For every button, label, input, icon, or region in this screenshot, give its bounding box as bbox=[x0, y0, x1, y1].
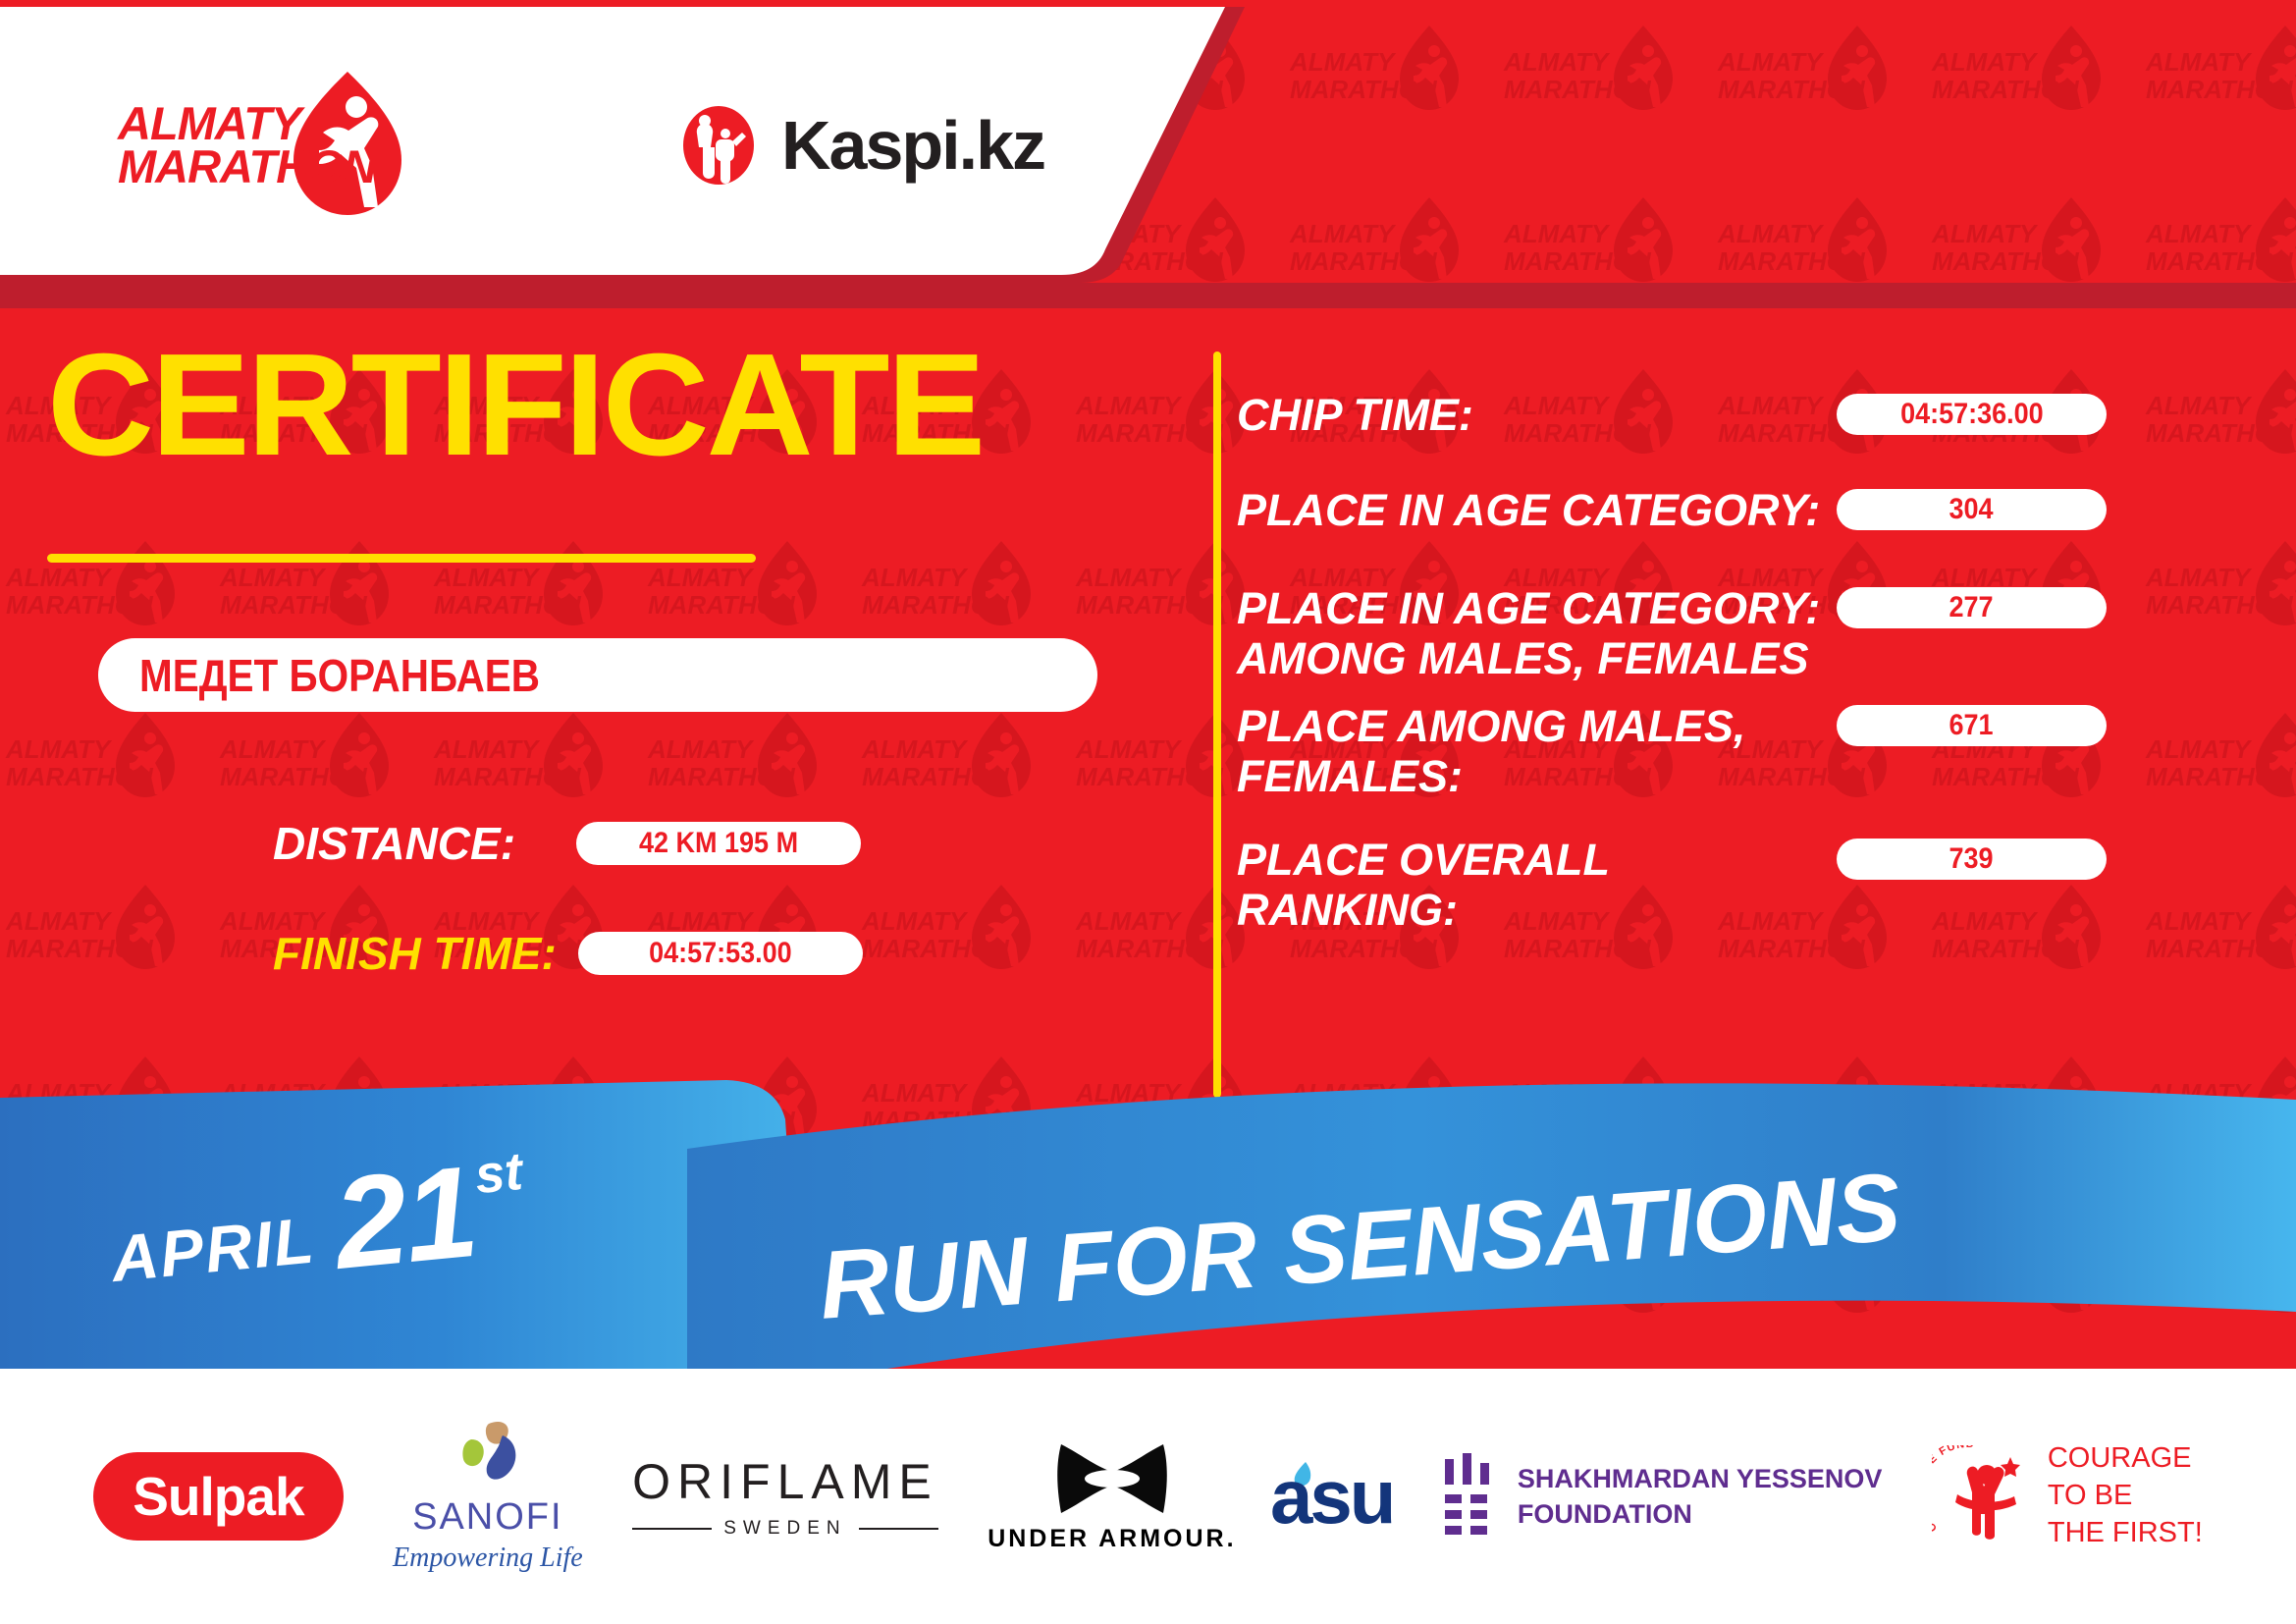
under-armour-wordmark: UNDER ARMOUR. bbox=[988, 1525, 1236, 1553]
place-age-among-value-pill: 277 bbox=[1837, 587, 2107, 628]
kaspi-logo: Kaspi.kz bbox=[677, 104, 1044, 187]
chip-time-value: 04:57:36.00 bbox=[1900, 398, 2044, 431]
sponsor-sanofi: SANOFI Empowering Life bbox=[393, 1420, 583, 1574]
sanofi-tagline: Empowering Life bbox=[393, 1543, 583, 1574]
place-among-mf-label-line1: PLACE AMONG MALES, bbox=[1237, 701, 1745, 751]
chip-time-label: CHIP TIME: bbox=[1237, 390, 1837, 440]
participant-name-value: МЕДЕТ БОРАНБАЕВ bbox=[139, 649, 540, 702]
stat-place-overall-ranking: PLACE OVERALL RANKING: 739 bbox=[1237, 835, 2258, 936]
place-among-mf-label-line2: FEMALES: bbox=[1237, 751, 1463, 801]
sulpak-wordmark: Sulpak bbox=[133, 1466, 303, 1527]
kaspi-family-icon bbox=[677, 104, 760, 187]
oriflame-wordmark: ORIFLAME bbox=[632, 1453, 938, 1510]
title-underline bbox=[47, 554, 756, 563]
oriflame-rule-right bbox=[859, 1528, 938, 1530]
courage-line-1: COURAGE bbox=[2048, 1442, 2192, 1474]
under-armour-icon bbox=[1051, 1440, 1173, 1519]
participant-name-field: МЕДЕТ БОРАНБАЕВ bbox=[98, 638, 1097, 712]
place-overall-label: PLACE OVERALL RANKING: bbox=[1237, 835, 1837, 936]
sponsor-yessenov: SHAKHMARDAN YESSENOV FOUNDATION bbox=[1443, 1453, 1883, 1540]
place-age-category-value-pill: 304 bbox=[1837, 489, 2107, 530]
sponsor-courage-fund: CORPORATE FUND COURAGE TO BE THE FIRST! bbox=[1932, 1440, 2203, 1551]
place-age-among-label-line2: AMONG MALES, FEMALES bbox=[1237, 633, 1809, 683]
distance-label: DISTANCE: bbox=[273, 817, 515, 870]
stat-place-age-category-among: PLACE IN AGE CATEGORY: AMONG MALES, FEMA… bbox=[1237, 583, 2258, 684]
yessenov-bars-icon bbox=[1443, 1453, 1496, 1540]
left-column: CERTIFICATE МЕДЕТ БОРАНБАЕВ DISTANCE: 42… bbox=[0, 308, 1168, 1153]
courage-child-icon: CORPORATE FUND bbox=[1932, 1445, 2038, 1547]
svg-text:CORPORATE FUND: CORPORATE FUND bbox=[1932, 1445, 1975, 1534]
sponsor-footer: Sulpak SANOFI Empowering Life ORIFLAME S… bbox=[0, 1369, 2296, 1624]
main-body: CERTIFICATE МЕДЕТ БОРАНБАЕВ DISTANCE: 42… bbox=[0, 308, 2296, 1153]
sanofi-icon bbox=[446, 1420, 530, 1492]
yessenov-line-2: FOUNDATION bbox=[1518, 1499, 1692, 1529]
oriflame-country: SWEDEN bbox=[723, 1518, 846, 1540]
courage-line-3: THE FIRST! bbox=[2048, 1517, 2203, 1548]
stat-place-age-category: PLACE IN AGE CATEGORY: 304 bbox=[1237, 485, 2258, 535]
header-underline-stripe bbox=[0, 283, 2296, 308]
place-age-among-label-line1: PLACE IN AGE CATEGORY: bbox=[1237, 583, 1820, 633]
stat-chip-time: CHIP TIME: 04:57:36.00 bbox=[1237, 390, 2258, 440]
right-column: CHIP TIME: 04:57:36.00 PLACE IN AGE CATE… bbox=[1237, 308, 2296, 1153]
sponsor-under-armour: UNDER ARMOUR. bbox=[988, 1440, 1236, 1553]
distance-value: 42 KM 195 M bbox=[639, 827, 798, 860]
yessenov-wordmark: SHAKHMARDAN YESSENOV FOUNDATION bbox=[1518, 1461, 1883, 1533]
asu-wordmark: asu bbox=[1270, 1452, 1393, 1542]
stat-place-among-males-females: PLACE AMONG MALES, FEMALES: 671 bbox=[1237, 701, 2258, 802]
place-among-mf-label: PLACE AMONG MALES, FEMALES: bbox=[1237, 701, 1837, 802]
finish-time-label: FINISH TIME: bbox=[273, 927, 557, 980]
place-overall-value: 739 bbox=[1949, 842, 1994, 876]
chip-time-value-pill: 04:57:36.00 bbox=[1837, 394, 2107, 435]
sponsor-oriflame: ORIFLAME SWEDEN bbox=[632, 1453, 938, 1540]
header-content: ALMATY MARATHON Kaspi.kz bbox=[0, 7, 1044, 283]
place-among-mf-value-pill: 671 bbox=[1837, 705, 2107, 746]
courage-line-2: TO BE bbox=[2048, 1480, 2133, 1511]
sulpak-logo: Sulpak bbox=[93, 1452, 343, 1541]
place-overall-value-pill: 739 bbox=[1837, 839, 2107, 880]
almaty-marathon-logo: ALMATY MARATHON bbox=[118, 72, 432, 219]
distance-value-pill: 42 KM 195 M bbox=[576, 822, 861, 865]
place-age-category-value: 304 bbox=[1949, 493, 1994, 526]
oriflame-sub: SWEDEN bbox=[632, 1518, 938, 1540]
top-accent-rule bbox=[0, 0, 2296, 7]
place-age-category-label: PLACE IN AGE CATEGORY: bbox=[1237, 485, 1837, 535]
kaspi-wordmark: Kaspi.kz bbox=[781, 106, 1044, 185]
page-title: CERTIFICATE bbox=[47, 333, 983, 478]
distance-row: DISTANCE: 42 KM 195 M bbox=[273, 817, 861, 870]
place-age-among-value: 277 bbox=[1949, 591, 1994, 624]
finish-time-value: 04:57:53.00 bbox=[649, 937, 792, 970]
vertical-divider bbox=[1213, 352, 1221, 1098]
place-among-mf-value: 671 bbox=[1949, 709, 1994, 742]
place-age-among-label: PLACE IN AGE CATEGORY: AMONG MALES, FEMA… bbox=[1237, 583, 1837, 684]
sponsor-asu: asu bbox=[1286, 1452, 1393, 1542]
header-band: ALMATY MARATHON Kaspi.kz bbox=[0, 7, 2296, 283]
logo-line-1: ALMATY bbox=[118, 102, 376, 144]
certificate-canvas: ALMATY MARATHON Kaspi.kz bbox=[0, 0, 2296, 1624]
finish-time-value-pill: 04:57:53.00 bbox=[578, 932, 863, 975]
oriflame-rule-left bbox=[632, 1528, 712, 1530]
sponsor-sulpak: Sulpak bbox=[93, 1452, 343, 1541]
logo-line-2: MARATHON bbox=[118, 145, 376, 188]
finish-time-row: FINISH TIME: 04:57:53.00 bbox=[273, 927, 863, 980]
sanofi-wordmark: SANOFI bbox=[412, 1496, 562, 1539]
almaty-marathon-wordmark: ALMATY MARATHON bbox=[118, 102, 376, 187]
yessenov-line-1: SHAKHMARDAN YESSENOV bbox=[1518, 1464, 1883, 1493]
courage-wordmark: COURAGE TO BE THE FIRST! bbox=[2048, 1440, 2203, 1551]
